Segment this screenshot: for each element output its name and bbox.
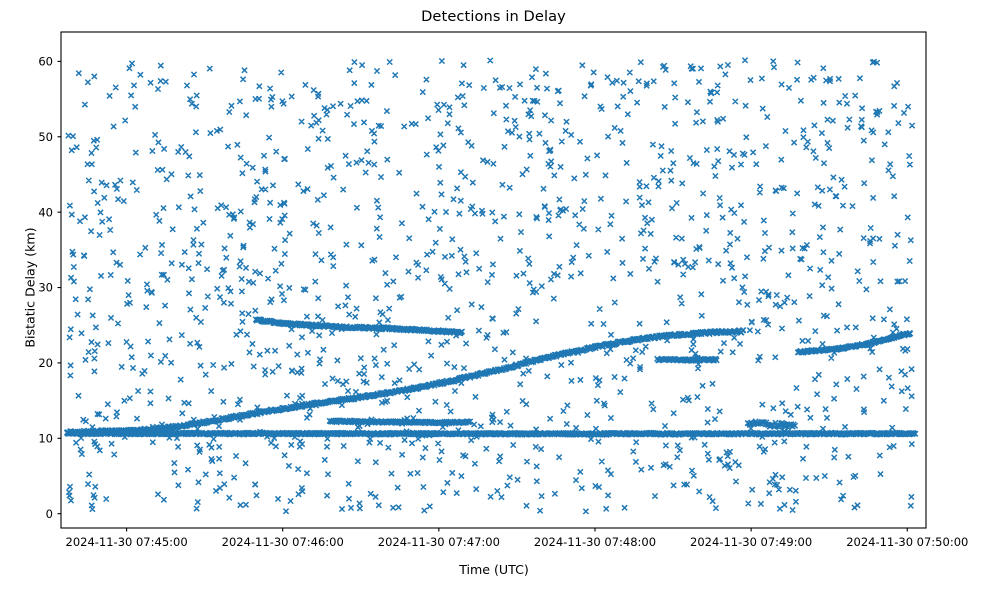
y-tick-label: 40 bbox=[38, 205, 53, 219]
y-axis-label: Bistatic Delay (km) bbox=[23, 188, 38, 388]
y-axis-ticks: 0102030405060 bbox=[38, 55, 61, 521]
x-tick-label: 2024-11-30 07:50:00 bbox=[846, 535, 968, 549]
scatter-plot-canvas: 2024-11-30 07:45:002024-11-30 07:46:0020… bbox=[0, 0, 987, 590]
data-markers-layer bbox=[64, 58, 918, 514]
y-tick-label: 30 bbox=[38, 281, 53, 295]
detection-markers bbox=[64, 58, 918, 514]
x-tick-label: 2024-11-30 07:49:00 bbox=[690, 535, 812, 549]
y-tick-label: 20 bbox=[38, 356, 53, 370]
x-tick-label: 2024-11-30 07:46:00 bbox=[222, 535, 344, 549]
y-tick-label: 50 bbox=[38, 130, 53, 144]
x-axis-label: Time (UTC) bbox=[61, 562, 927, 577]
y-tick-label: 60 bbox=[38, 55, 53, 69]
x-tick-label: 2024-11-30 07:47:00 bbox=[378, 535, 500, 549]
x-tick-label: 2024-11-30 07:45:00 bbox=[66, 535, 188, 549]
x-axis-ticks: 2024-11-30 07:45:002024-11-30 07:46:0020… bbox=[66, 528, 969, 549]
x-tick-label: 2024-11-30 07:48:00 bbox=[534, 535, 656, 549]
chart-figure: Detections in Delay 2024-11-30 07:45:002… bbox=[0, 0, 987, 590]
y-tick-label: 10 bbox=[38, 431, 53, 445]
y-tick-label: 0 bbox=[46, 507, 53, 521]
